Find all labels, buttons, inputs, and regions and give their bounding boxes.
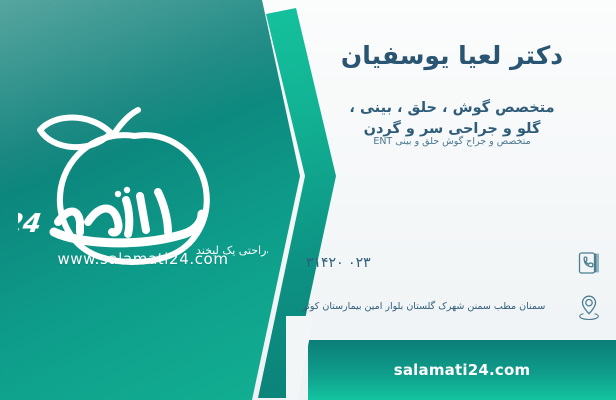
doctor-name: دکتر لعیا یوسفیان [306,40,598,71]
svg-text:24: 24 [18,209,43,239]
salamati24-logo[interactable]: 24 به‌راحتی یک لبخند www.salamati24.com [18,104,268,274]
footer-bar: salamati24.com [308,340,616,400]
logo-24-badge: 24 [18,209,43,239]
logo-website-url[interactable]: www.salamati24.com [18,250,268,268]
specialty-line-1: متخصص گوش ، حلق ، بینی ، [306,98,598,119]
doctor-specialty-secondary: متخصص و جراح گوش حلق و بینی ENT [306,136,598,148]
contact-info-list: ۳۱۴۲۰ ۰۲۳ سمنان مطب سمنن شهرک گلستان بلو… [302,248,602,336]
contact-row-phone[interactable]: ۳۱۴۲۰ ۰۲۳ [302,248,602,278]
map-pin-icon [576,292,602,322]
doctor-specialty: متخصص گوش ، حلق ، بینی ، گلو و جراحی سر … [306,98,598,140]
footer-website[interactable]: salamati24.com [394,361,531,379]
brand-artwork-panel: 24 به‌راحتی یک لبخند www.salamati24.com [0,0,330,400]
apple-outline-icon: 24 به‌راحتی یک لبخند [18,104,268,274]
contact-row-address[interactable]: سمنان مطب سمنن شهرک گلستان بلوار امین بی… [302,292,602,322]
phone-number: ۳۱۴۲۰ ۰۲۳ [302,255,566,271]
clinic-address: سمنان مطب سمنن شهرک گلستان بلوار امین بی… [302,300,566,313]
phone-book-icon [576,248,602,278]
doctor-profile-card: 24 به‌راحتی یک لبخند www.salamati24.com … [0,0,616,400]
